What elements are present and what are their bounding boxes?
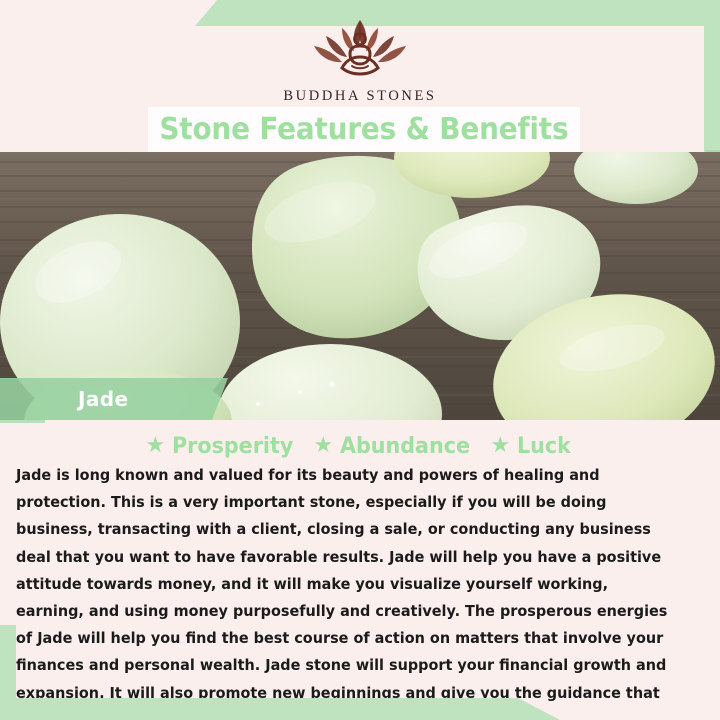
benefit-label: Abundance [340, 434, 470, 459]
benefit-item-luck: ★ Luck [490, 434, 574, 459]
page-title: Stone Features & Benefits [160, 112, 569, 147]
bottom-green-accent-shape [0, 698, 560, 720]
title-banner: Stone Features & Benefits [148, 107, 580, 152]
brand-logo: BUDDHA STONES [0, 16, 720, 105]
benefit-label: Prosperity [172, 434, 293, 459]
benefit-item-abundance: ★ Abundance [313, 434, 478, 459]
stone-description: Jade is long known and valued for its be… [16, 462, 677, 720]
stone-name-banner: Jade [0, 378, 228, 420]
infographic-page: BUDDHA STONES Stone Features & Benefits [0, 0, 720, 720]
star-icon: ★ [146, 435, 166, 457]
star-icon: ★ [313, 435, 333, 457]
benefits-row: ★ Prosperity ★ Abundance ★ Luck [0, 430, 720, 462]
star-icon: ★ [490, 435, 510, 457]
lotus-meditation-icon [296, 16, 424, 86]
header: BUDDHA STONES Stone Features & Benefits [0, 0, 720, 152]
stone-name-label: Jade [78, 387, 128, 411]
brand-name: BUDDHA STONES [283, 88, 436, 105]
benefit-label: Luck [517, 434, 571, 459]
benefit-item-prosperity: ★ Prosperity [146, 434, 302, 459]
